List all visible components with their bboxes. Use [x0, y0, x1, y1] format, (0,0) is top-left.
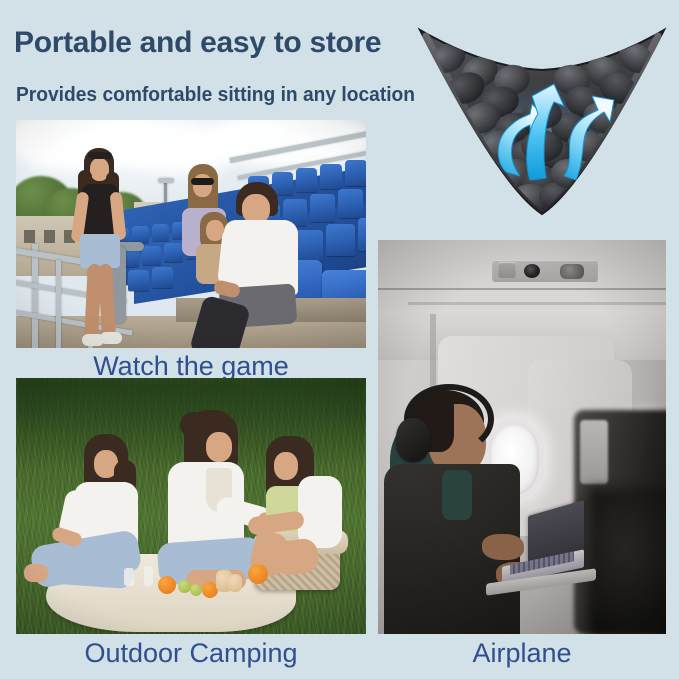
page-subtitle: Provides comfortable sitting in any loca…: [16, 82, 415, 108]
caption-airplane: Airplane: [378, 637, 666, 669]
photo-airplane: [378, 240, 666, 634]
caption-outdoor-camping: Outdoor Camping: [16, 637, 366, 669]
camping-scene: [16, 378, 366, 634]
airplane-scene: [378, 240, 666, 634]
photo-watch-the-game: [16, 120, 366, 348]
photo-vignette: [16, 120, 366, 348]
infographic-page: Portable and easy to store Provides comf…: [0, 0, 679, 679]
product-image-seat-cushion: [414, 22, 670, 230]
photo-vignette: [16, 378, 366, 634]
photo-outdoor-camping: [16, 378, 366, 634]
photo-vignette: [378, 240, 666, 634]
page-title: Portable and easy to store: [14, 24, 381, 62]
stadium-scene: [16, 120, 366, 348]
